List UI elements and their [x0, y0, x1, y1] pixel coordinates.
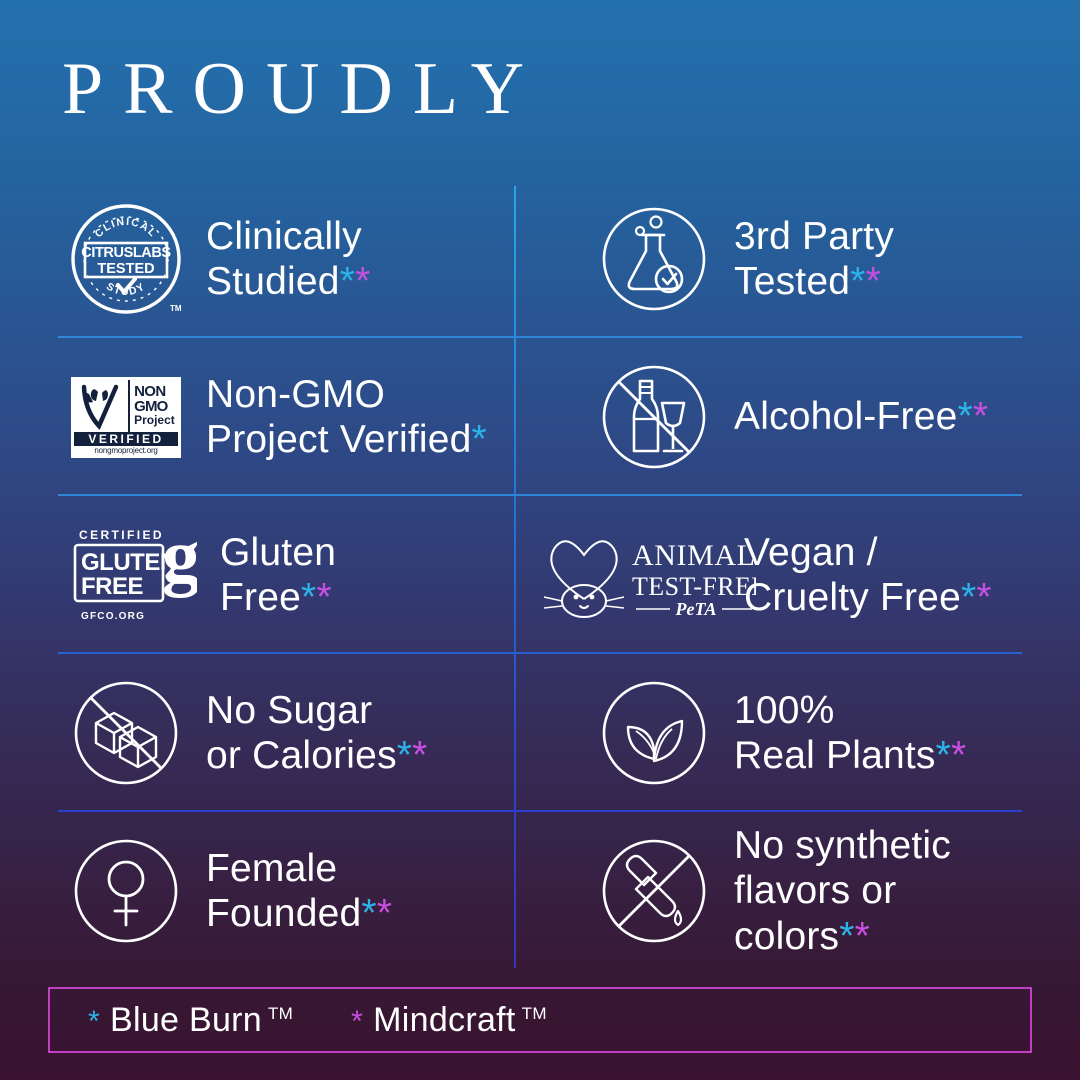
legend-product-name: Mindcraft [373, 1001, 516, 1040]
page-title: PROUDLY [62, 52, 544, 126]
claim-item-non-gmo: NON GMO Project VERIFIED nongmoproject.o… [62, 338, 540, 496]
no-dropper-icon [596, 837, 712, 945]
claim-line-2: Tested [734, 260, 850, 303]
trademark-symbol: TM [522, 1004, 547, 1024]
claim-label: Alcohol-Free** [734, 394, 988, 439]
ngmo-url: nongmoproject.org [74, 446, 178, 455]
claim-line-2: Free [220, 576, 301, 619]
claim-line-1: Clinically [206, 215, 362, 258]
claim-line-1: 3rd Party [734, 215, 894, 258]
legend-product-name: Blue Burn [110, 1001, 262, 1040]
claim-item-real-plants: 100% Real Plants** [540, 654, 1018, 812]
svg-text:STUDY: STUDY [104, 280, 148, 298]
claim-line-1: Female [206, 847, 337, 890]
claim-line-1: Vegan / [744, 531, 878, 574]
claims-grid: CITRUSLABS TESTED CLINICAL STUDY TM Clin… [62, 180, 1018, 970]
claim-item-3rd-party-tested: 3rd Party Tested** [540, 180, 1018, 338]
trademark-symbol: TM [268, 1004, 293, 1024]
peta-line2: TEST-FREE [632, 572, 756, 601]
flask-check-icon [596, 205, 712, 313]
claim-label: Non-GMO Project Verified* [206, 372, 487, 462]
ngmo-verified-bar: VERIFIED [74, 432, 178, 446]
claim-item-no-synthetic: No synthetic flavors or colors** [540, 812, 1018, 970]
certified-gluten-free-gfco-badge-icon: CERTIFIED GLUTEN FREE g GFCO.ORG [68, 523, 198, 627]
ngmo-line3: Project [134, 414, 178, 427]
svg-text:TESTED: TESTED [97, 261, 154, 277]
claim-item-clinically-studied: CITRUSLABS TESTED CLINICAL STUDY TM Clin… [62, 180, 540, 338]
claim-label: 100% Real Plants** [734, 688, 966, 778]
svg-text:g: g [162, 523, 197, 598]
claim-line-2: Cruelty Free [744, 576, 961, 619]
claim-item-gluten-free: CERTIFIED GLUTEN FREE g GFCO.ORG Gluten … [62, 496, 540, 654]
citruslabs-clinical-study-badge-icon: CITRUSLABS TESTED CLINICAL STUDY TM [68, 203, 184, 315]
claim-item-no-sugar: No Sugar or Calories** [62, 654, 540, 812]
peta-animal-test-free-badge-icon: ANIMAL TEST-FREE PeTA [540, 527, 756, 623]
claim-line-1: Gluten [220, 531, 336, 574]
peta-line1: ANIMAL [632, 539, 756, 572]
legend-item-blue-burn: * Blue BurnTM [88, 1001, 293, 1040]
claim-item-vegan-cruelty-free: ANIMAL TEST-FREE PeTA Vegan / Cruelty Fr… [540, 496, 1018, 654]
svg-text:CITRUSLABS: CITRUSLABS [81, 245, 171, 261]
legend-item-mindcraft: * MindcraftTM [351, 1001, 547, 1040]
legend-asterisk: * [351, 1005, 363, 1039]
footnote-legend: * Blue BurnTM * MindcraftTM [48, 987, 1032, 1053]
claim-label: No Sugar or Calories** [206, 688, 428, 778]
no-alcohol-icon [596, 363, 712, 471]
claim-line-1: 100% [734, 689, 835, 732]
claim-line-1: No synthetic [734, 824, 951, 867]
claim-line-2: Studied [206, 260, 340, 303]
claim-label: Female Founded** [206, 846, 392, 936]
claim-line-1: No Sugar [206, 689, 372, 732]
claim-item-alcohol-free: Alcohol-Free** [540, 338, 1018, 496]
claim-item-female-founded: Female Founded** [62, 812, 540, 970]
claim-label: No synthetic flavors or colors** [734, 823, 1008, 959]
claim-line-2: Founded [206, 892, 361, 935]
svg-text:GFCO.ORG: GFCO.ORG [81, 611, 145, 622]
ngmo-line2: GMO [134, 399, 178, 414]
female-venus-icon [68, 837, 184, 945]
svg-text:TM: TM [170, 304, 182, 313]
claim-label: Gluten Free** [220, 530, 336, 620]
legend-asterisk: * [88, 1005, 100, 1039]
claim-label: 3rd Party Tested** [734, 214, 894, 304]
svg-text:FREE: FREE [81, 573, 144, 600]
claim-line-1: Non-GMO [206, 373, 385, 416]
claim-label: Vegan / Cruelty Free** [744, 530, 992, 620]
non-gmo-project-verified-badge-icon: NON GMO Project VERIFIED nongmoproject.o… [68, 377, 184, 458]
claim-line-2: or Calories [206, 734, 397, 777]
svg-text:CLINICAL: CLINICAL [93, 216, 160, 240]
leaves-icon [596, 679, 712, 787]
ngmo-line1: NON [134, 385, 178, 399]
svg-text:PeTA: PeTA [675, 599, 717, 619]
claim-label: Clinically Studied** [206, 214, 370, 304]
no-sugar-cubes-icon [68, 679, 184, 787]
claim-line-2: Real Plants [734, 734, 936, 777]
claim-line-2: Project Verified [206, 418, 472, 461]
claim-line-2: flavors or colors [734, 869, 896, 957]
svg-text:CERTIFIED: CERTIFIED [79, 528, 164, 542]
claim-line-1: Alcohol-Free [734, 395, 958, 438]
